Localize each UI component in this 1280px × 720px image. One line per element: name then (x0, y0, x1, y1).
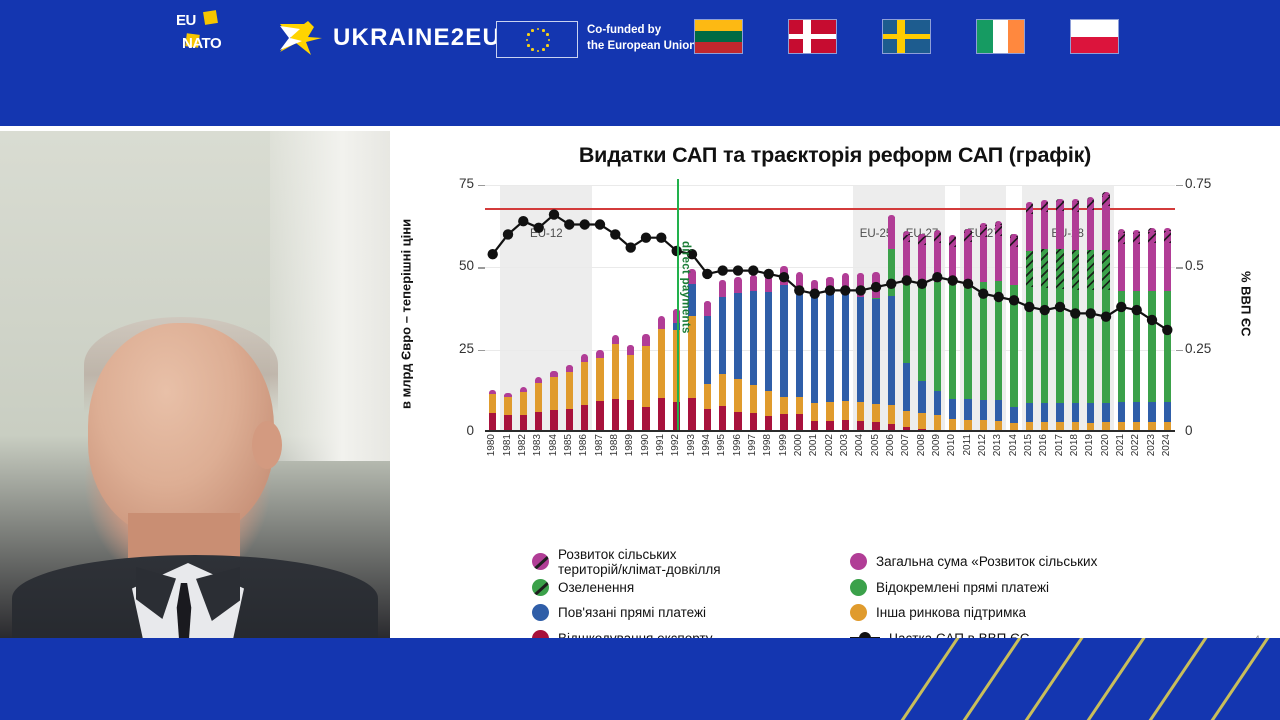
legend-label: Озеленення (558, 580, 634, 595)
y-axis-right-title: % ВВП ЄС (1236, 219, 1256, 389)
x-axis-tick-label: 2004 (854, 434, 867, 456)
x-axis-tick-label: 2014 (1008, 434, 1021, 456)
flag-ireland (976, 19, 1025, 54)
line-point (1055, 302, 1065, 312)
y-tick-mark-left (478, 350, 485, 351)
line-point (1086, 308, 1096, 318)
speaker-ear (252, 421, 282, 469)
line-point (764, 269, 774, 279)
direct-payments-label: direct payments (680, 241, 692, 334)
eu-cofunded-line1: Co-funded by (587, 23, 696, 39)
ukraine2eu-wordmark: UKRAINE2EU (333, 24, 501, 52)
ukraine2eu-mark-icon (278, 19, 324, 57)
eu-cofunded-line2: the European Union (587, 39, 696, 55)
line-point (1162, 325, 1172, 335)
line-point (733, 265, 743, 275)
slide-screenshot: EU NATO UKRAINE2EU Co-funded by the Euro… (0, 0, 1280, 720)
eu-cofunded-text: Co-funded by the European Union (587, 23, 696, 54)
legend-label: Розвиток сільськихтериторій/клімат-довкі… (558, 547, 721, 577)
line-point (1009, 295, 1019, 305)
x-axis-tick-label: 1985 (563, 434, 576, 456)
x-axis-tick-label: 2018 (1069, 434, 1082, 456)
line-point (963, 279, 973, 289)
x-axis-tick-label: 2012 (977, 434, 990, 456)
legend-column-left: Розвиток сільськихтериторій/клімат-довкі… (532, 549, 721, 651)
x-axis-tick-label: 2022 (1130, 434, 1143, 456)
x-axis-tick-label: 1990 (640, 434, 653, 456)
legend-color-swatch (532, 604, 549, 621)
x-axis-tick-label: 1988 (609, 434, 622, 456)
y-tick-right: 0.5 (1185, 258, 1231, 273)
legend-color-swatch (532, 553, 549, 570)
flag-denmark (788, 19, 837, 54)
x-axis-tick-label: 2021 (1115, 434, 1128, 456)
cap-share-line (485, 185, 1175, 432)
line-point (488, 249, 498, 259)
flag-lithuania (694, 19, 743, 54)
line-point (549, 209, 559, 219)
line-point (534, 223, 544, 233)
x-axis-tick-label: 1991 (655, 434, 668, 456)
x-axis-tick-label: 1996 (732, 434, 745, 456)
x-axis-tick-label: 2000 (793, 434, 806, 456)
x-axis-tick-label: 1999 (778, 434, 791, 456)
line-point (1101, 312, 1111, 322)
line-point (580, 219, 590, 229)
line-point (1147, 315, 1157, 325)
x-axis-tick-label: 1997 (747, 434, 760, 456)
x-axis-tick-label: 2011 (962, 434, 975, 456)
legend-item[interactable]: Озеленення (532, 575, 721, 601)
decorative-stripe (955, 638, 1086, 720)
x-axis-tick-label: 1993 (686, 434, 699, 456)
y-tick-right: 0 (1185, 423, 1231, 438)
y-tick-mark-right (1176, 350, 1183, 351)
legend-item[interactable]: Відокремлені прямі платежі (850, 575, 1097, 601)
x-axis-tick-label: 1983 (532, 434, 545, 456)
eu-nato-line1: EU (176, 13, 196, 28)
legend-item[interactable]: Інша ринкова підтримка (850, 600, 1097, 626)
legend-label: Пов'язані прямі платежі (558, 605, 706, 620)
legend-color-swatch (532, 579, 549, 596)
x-axis-tick-label: 2010 (946, 434, 959, 456)
x-axis-tick-label: 1995 (716, 434, 729, 456)
x-axis-tick-label: 2008 (916, 434, 929, 456)
y-tick-mark-left (478, 267, 485, 268)
x-axis-tick-label: 1984 (548, 434, 561, 456)
decorative-stripe (893, 638, 1024, 720)
x-axis-tick-label: 2017 (1054, 434, 1067, 456)
speaker-video-feed (0, 131, 390, 638)
x-axis-tick-label: 2013 (992, 434, 1005, 456)
x-axis-tick-label: 2006 (885, 434, 898, 456)
line-point (1040, 305, 1050, 315)
line-point (856, 285, 866, 295)
line-point (564, 219, 574, 229)
plot-area: EU-12EU-25EU-27EU-27EU-28 direct payment… (485, 185, 1175, 432)
line-point (702, 269, 712, 279)
legend-color-swatch (850, 553, 867, 570)
eu-flag-icon (496, 21, 578, 58)
x-axis-tick-label: 1982 (517, 434, 530, 456)
video-background-wall (270, 131, 390, 461)
line-point (718, 265, 728, 275)
x-axis-line (485, 430, 1175, 433)
y-tick-mark-right (1176, 185, 1183, 186)
x-axis-tick-label: 2007 (900, 434, 913, 456)
line-point (917, 279, 927, 289)
decorative-stripe (1017, 638, 1148, 720)
top-banner: EU NATO UKRAINE2EU Co-funded by the Euro… (0, 0, 1280, 126)
y-tick-left: 25 (434, 341, 474, 356)
x-axis-tick-label: 2024 (1161, 434, 1174, 456)
line-point (825, 285, 835, 295)
line-point (948, 275, 958, 285)
country-flags (694, 19, 1119, 54)
y-tick-left: 0 (434, 423, 474, 438)
eu-nato-line2: NATO (182, 36, 221, 51)
line-point (1132, 305, 1142, 315)
line-point (840, 285, 850, 295)
y-tick-right: 0.25 (1185, 341, 1231, 356)
line-point (656, 233, 666, 243)
x-axis-tick-label: 1986 (578, 434, 591, 456)
line-point (1116, 302, 1126, 312)
x-axis-tick-label: 2002 (824, 434, 837, 456)
page-title: Видатки САП та траєкторія реформ САП (гр… (390, 143, 1280, 168)
ukraine2eu-logo: UKRAINE2EU (278, 18, 501, 58)
x-axis-tick-label: 2016 (1038, 434, 1051, 456)
decorative-stripe (1079, 638, 1210, 720)
line-point (1024, 302, 1034, 312)
legend-column-right: Загальна сума «Розвиток сільськихВідокре… (850, 549, 1097, 651)
y-tick-left: 75 (434, 176, 474, 191)
x-axis-tick-label: 1998 (762, 434, 775, 456)
y-tick-right: 0.75 (1185, 176, 1231, 191)
line-point (794, 285, 804, 295)
bottom-banner (0, 638, 1280, 720)
x-axis-tick-label: 2005 (870, 434, 883, 456)
x-axis-tick-label: 2019 (1084, 434, 1097, 456)
line-point (902, 275, 912, 285)
presentation-slide: Видатки САП та траєкторія реформ САП (гр… (390, 131, 1280, 638)
line-point (994, 292, 1004, 302)
legend-item[interactable]: Пов'язані прямі платежі (532, 600, 721, 626)
speaker-head (88, 323, 274, 538)
line-point (1070, 308, 1080, 318)
x-axis-tick-label: 2015 (1023, 434, 1036, 456)
y-axis-left-title: в млрд Євро – теперішні ціни (396, 189, 416, 439)
line-point (779, 272, 789, 282)
eu-nato-logo: EU NATO (176, 8, 248, 66)
x-axis-tick-label: 1989 (624, 434, 637, 456)
legend-label: Відокремлені прямі платежі (876, 580, 1049, 595)
y-tick-left: 50 (434, 258, 474, 273)
x-axis-tick-label: 2020 (1100, 434, 1113, 456)
direct-payments-marker-line (677, 179, 679, 432)
decorative-stripe (831, 638, 962, 720)
line-point (641, 233, 651, 243)
line-point (978, 289, 988, 299)
line-point (626, 242, 636, 252)
cap-expenditure-chart: в млрд Євро – теперішні ціни % ВВП ЄС 02… (390, 179, 1280, 579)
x-axis-tick-label: 1992 (670, 434, 683, 456)
flag-sweden (882, 19, 931, 54)
x-axis-tick-label: 2003 (839, 434, 852, 456)
line-point (503, 229, 513, 239)
legend-item[interactable]: Розвиток сільськихтериторій/клімат-довкі… (532, 549, 721, 575)
line-point (518, 216, 528, 226)
line-path (493, 215, 1168, 330)
y-tick-mark-left (478, 185, 485, 186)
legend-color-swatch (850, 604, 867, 621)
flag-poland (1070, 19, 1119, 54)
x-axis-tick-label: 1994 (701, 434, 714, 456)
y-tick-mark-right (1176, 267, 1183, 268)
line-point (932, 272, 942, 282)
line-point (595, 219, 605, 229)
x-axis-tick-label: 1981 (502, 434, 515, 456)
x-axis-tick-label: 2009 (931, 434, 944, 456)
line-point (810, 289, 820, 299)
x-axis-tick-label: 2001 (808, 434, 821, 456)
x-axis-tick-label: 2023 (1146, 434, 1159, 456)
x-axis-tick-label: 1987 (594, 434, 607, 456)
legend-item[interactable]: Загальна сума «Розвиток сільських (850, 549, 1097, 575)
legend-label: Загальна сума «Розвиток сільських (876, 554, 1097, 569)
line-point (886, 279, 896, 289)
x-axis-labels: 1980198119821983198419851986198719881989… (485, 434, 1175, 492)
decorative-stripe (1141, 638, 1272, 720)
line-point (610, 229, 620, 239)
legend-color-swatch (850, 579, 867, 596)
x-axis-tick-label: 1980 (486, 434, 499, 456)
legend-label: Інша ринкова підтримка (876, 605, 1026, 620)
line-point (871, 282, 881, 292)
line-point (748, 265, 758, 275)
eu-cofunded-logo: Co-funded by the European Union (496, 20, 696, 58)
